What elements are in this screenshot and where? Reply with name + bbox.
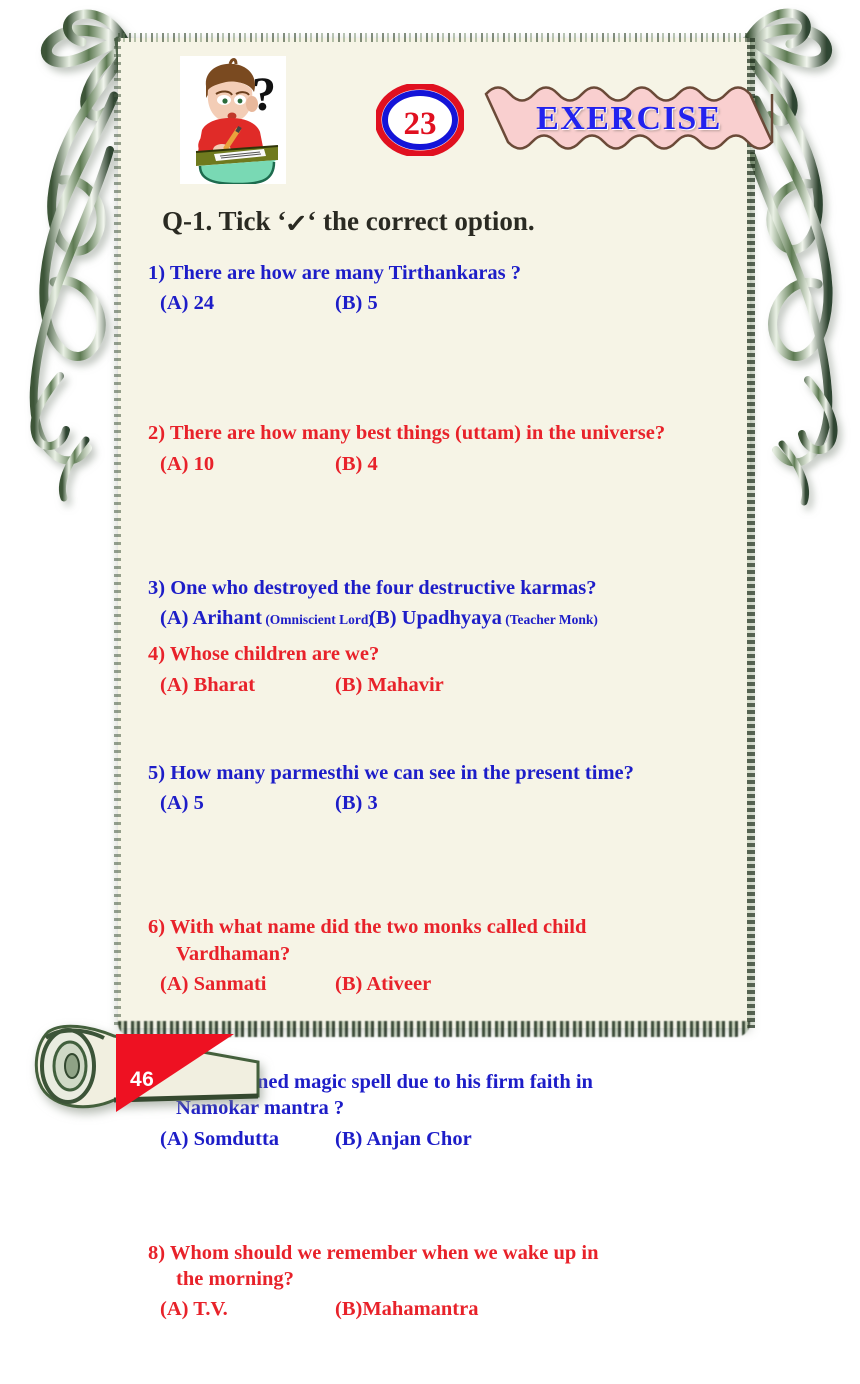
question-prompt-line2: Vardhaman? [162, 941, 742, 967]
question-prompt: One who destroyed the four destructive k… [170, 577, 596, 599]
exercise-banner: EXERCISE [484, 80, 774, 158]
question-text: 3) One who destroyed the four destructiv… [148, 575, 742, 631]
question-text: 6) With what name did the two monks call… [148, 914, 742, 997]
question-text: 1) There are how are many Tirthankaras ?… [148, 260, 742, 316]
page-number: 46 [130, 1068, 154, 1092]
option-b[interactable]: (B) Upadhyaya (Teacher Monk) [383, 605, 598, 631]
question-prompt: Whom should we remember when we wake up … [170, 1242, 599, 1264]
instruction-suffix: ‘ the correct option. [307, 206, 534, 236]
option-a[interactable]: (A) T.V. [174, 1296, 349, 1322]
option-a-label: (A) Bharat [160, 674, 255, 696]
option-row: (A) 10(B) 4 [162, 451, 742, 477]
option-b-label: (B)Mahamantra [335, 1298, 478, 1320]
option-a[interactable]: (A) 10 [174, 451, 349, 477]
option-row: (A) 24(B) 5 [162, 290, 742, 316]
option-b-label: (B) 4 [335, 453, 378, 475]
option-a[interactable]: (A) 5 [174, 790, 349, 816]
question-item: 1) There are how are many Tirthankaras ?… [142, 260, 742, 316]
option-a[interactable]: (A) Bharat [174, 672, 349, 698]
question-number: 3) [148, 577, 170, 599]
question-number: 1) [148, 262, 170, 284]
option-a[interactable]: (A) Arihant (Omniscient Lord) [174, 605, 373, 631]
option-a-label: (A) 24 [160, 292, 214, 314]
question-number: 4) [148, 643, 170, 665]
question-prompt-line2: the morning? [162, 1266, 742, 1292]
option-a-label: (A) Arihant [160, 607, 262, 629]
option-row: (A) Sanmati(B) Ativeer [162, 971, 742, 997]
option-b[interactable]: (B) 3 [349, 790, 378, 816]
exercise-worksheet-page: ? [0, 0, 860, 1126]
option-row: (A) Arihant (Omniscient Lord) (B) Upadhy… [162, 605, 742, 631]
option-b-label: (B) 3 [335, 792, 378, 814]
option-row: (A) Somdutta(B) Anjan Chor [162, 1126, 742, 1152]
paper-top-edge [118, 33, 750, 42]
chapter-number-badge: 23 [376, 84, 464, 156]
option-row: (A) 5(B) 3 [162, 790, 742, 816]
option-b-sublabel: (Teacher Monk) [502, 612, 598, 627]
question-prompt: How many parmesthi we can see in the pre… [170, 762, 634, 784]
option-b-label: (B) Anjan Chor [335, 1128, 472, 1150]
question-text: 7) Who attained magic spell due to his f… [148, 1069, 742, 1152]
option-b[interactable]: (B) Ativeer [349, 971, 431, 997]
exercise-title: EXERCISE [484, 80, 774, 158]
question-item: 6) With what name did the two monks call… [142, 914, 742, 997]
instruction-prefix: Q-1. Tick ‘ [162, 206, 286, 236]
question-prompt: With what name did the two monks called … [170, 916, 587, 938]
question-number: 2) [148, 422, 170, 444]
option-row: (A) Bharat(B) Mahavir [162, 672, 742, 698]
question-prompt: There are how many best things (uttam) i… [170, 422, 665, 444]
question-number: 8) [148, 1242, 170, 1264]
paper-right-edge [747, 38, 755, 1028]
question-text: 5) How many parmesthi we can see in the … [148, 760, 742, 816]
scroll-paper-sheet: ? [118, 38, 750, 1028]
option-a[interactable]: (A) Sanmati [174, 971, 349, 997]
questions-list: 1) There are how are many Tirthankaras ?… [142, 260, 742, 1384]
question-item: 3) One who destroyed the four destructiv… [142, 575, 742, 631]
paper-left-edge [114, 38, 121, 1028]
option-b-label: (B) 5 [335, 292, 378, 314]
option-a-label: (A) 10 [160, 453, 214, 475]
question-prompt-line2: Namokar mantra ? [162, 1095, 742, 1121]
option-a-label: (A) 5 [160, 792, 204, 814]
option-b[interactable]: (B) 4 [349, 451, 378, 477]
option-a-label: (A) Sanmati [160, 973, 266, 995]
option-b[interactable]: (B) Mahavir [349, 672, 444, 698]
option-a-label: (A) Somdutta [160, 1128, 279, 1150]
tick-mark-icon: ✓ [285, 212, 309, 237]
question-number: 6) [148, 916, 170, 938]
option-b-label: (B) Mahavir [335, 674, 444, 696]
question-number: 5) [148, 762, 170, 784]
question-item: 5) How many parmesthi we can see in the … [142, 760, 742, 816]
option-a-sublabel: (Omniscient Lord) [262, 612, 373, 627]
question-text: 8) Whom should we remember when we wake … [148, 1240, 742, 1323]
svg-text:?: ? [252, 68, 276, 121]
option-a[interactable]: (A) Somdutta [174, 1126, 349, 1152]
option-b[interactable]: (B)Mahamantra [349, 1296, 478, 1322]
option-a-label: (A) T.V. [160, 1298, 228, 1320]
option-b-label: (B) Upadhyaya [369, 607, 502, 629]
instruction-line: Q-1. Tick ‘✓‘ the correct option. [162, 206, 535, 237]
boy-writing-icon: ? [180, 56, 286, 184]
question-text: 4) Whose children are we?(A) Bharat(B) M… [148, 641, 742, 697]
question-item: 8) Whom should we remember when we wake … [142, 1240, 742, 1323]
question-text: 2) There are how many best things (uttam… [148, 420, 742, 476]
option-b[interactable]: (B) 5 [349, 290, 378, 316]
question-prompt: There are how are many Tirthankaras ? [170, 262, 521, 284]
option-b-label: (B) Ativeer [335, 973, 431, 995]
question-item: 4) Whose children are we?(A) Bharat(B) M… [142, 641, 742, 697]
question-prompt: Whose children are we? [170, 643, 379, 665]
chapter-number-text: 23 [404, 106, 437, 142]
option-b[interactable]: (B) Anjan Chor [349, 1126, 472, 1152]
question-item: 2) There are how many best things (uttam… [142, 420, 742, 476]
option-a[interactable]: (A) 24 [174, 290, 349, 316]
option-row: (A) T.V.(B)Mahamantra [162, 1296, 742, 1322]
page-header: ? [180, 56, 740, 184]
